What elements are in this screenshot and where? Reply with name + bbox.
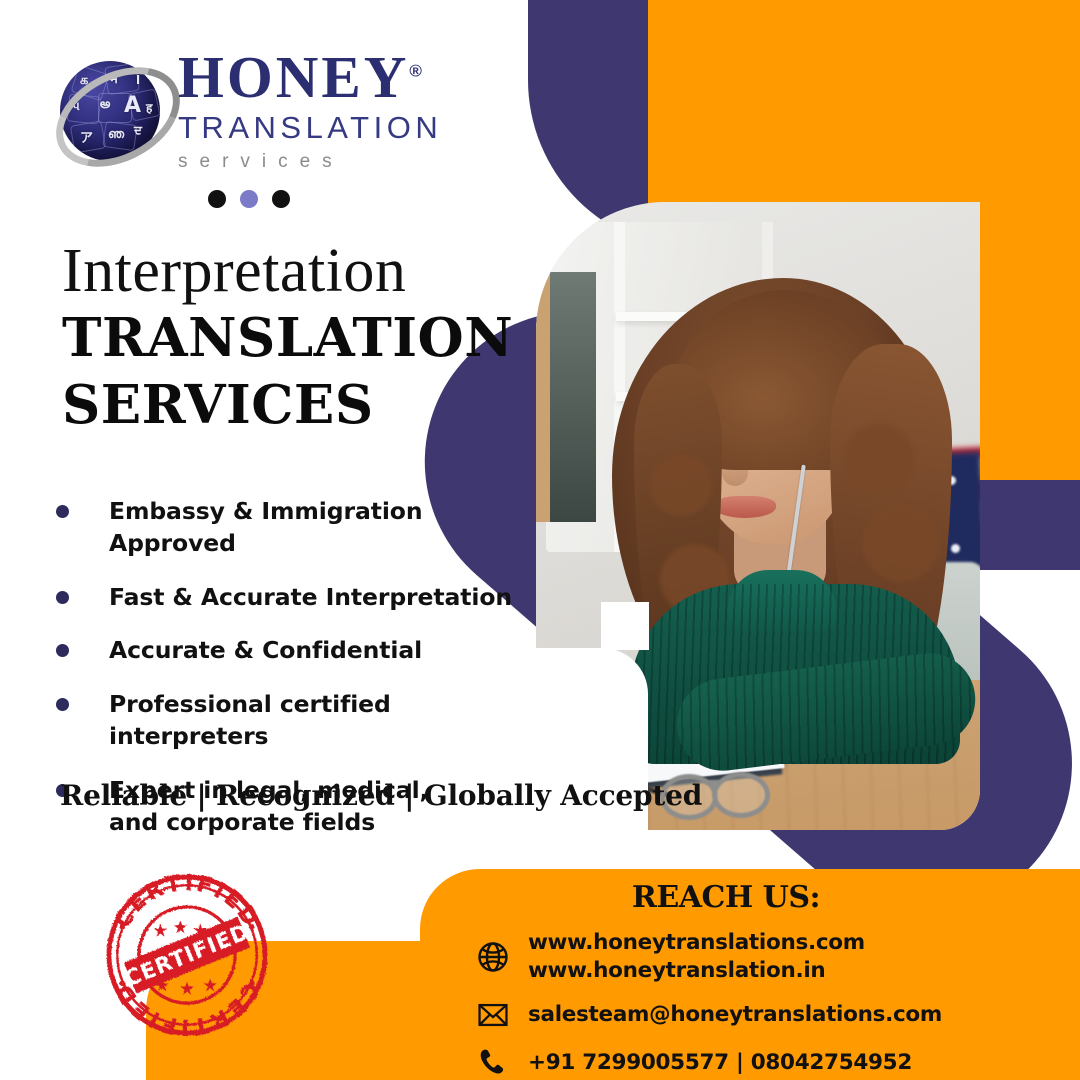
list-item-label: Accurate & Confidential xyxy=(109,634,422,666)
interpreter-person xyxy=(594,254,964,744)
list-item: Professional certified interpreters xyxy=(56,688,526,753)
logo-primary-text: HONEY® xyxy=(178,48,442,107)
contact-row-phone[interactable]: +91 7299005577 | 08042754952 xyxy=(470,1046,1080,1080)
tagline: Reliable | Recognized | Globally Accepte… xyxy=(60,779,702,812)
heading-line-1: TRANSLATION xyxy=(62,305,513,372)
list-item: Embassy & Immigration Approved xyxy=(56,495,526,560)
globe-icon xyxy=(470,939,516,975)
list-item-label: Embassy & Immigration Approved xyxy=(109,495,526,560)
contact-title: REACH US: xyxy=(500,880,952,915)
eyeglasses-bridge xyxy=(704,780,720,785)
list-item: Fast & Accurate Interpretation xyxy=(56,581,526,613)
hair-curl xyxy=(844,424,914,494)
website-line-1[interactable]: www.honeytranslations.com xyxy=(528,929,865,957)
decorative-dots xyxy=(208,190,290,208)
logo-secondary-text: TRANSLATION xyxy=(178,109,442,148)
contact-email[interactable]: salesteam@honeytranslations.com xyxy=(528,1001,942,1029)
list-item: Accurate & Confidential xyxy=(56,634,526,666)
bullet-dot-icon xyxy=(56,644,69,657)
list-item-label: Fast & Accurate Interpretation xyxy=(109,581,512,613)
contact-section: REACH US: www.honeytranslations.com www.… xyxy=(470,880,1080,1080)
bullet-dot-icon xyxy=(56,591,69,604)
bullet-dot-icon xyxy=(56,698,69,711)
globe-languages-icon: க म ا પ అ A ह ア ഞ ਦ xyxy=(52,51,170,169)
heading-line-2: SERVICES xyxy=(62,372,513,439)
page-title: TRANSLATION SERVICES xyxy=(62,305,513,439)
registered-mark: ® xyxy=(409,61,425,80)
contact-row-website[interactable]: www.honeytranslations.com www.honeytrans… xyxy=(470,929,1080,984)
certified-stamp-icon: CERTIFIED CERTIFIED CERTIFIED xyxy=(104,872,270,1038)
dot-1 xyxy=(208,190,226,208)
hair-curl xyxy=(650,454,712,516)
list-item-label: Professional certified interpreters xyxy=(109,688,526,753)
contact-website-block: www.honeytranslations.com www.honeytrans… xyxy=(528,929,865,984)
contact-phone[interactable]: +91 7299005577 | 08042754952 xyxy=(528,1049,912,1077)
logo-tertiary-text: services xyxy=(178,151,442,173)
poster-canvas: க म ا પ అ A ह ア ഞ ਦ HONEY® TRANSLATION s… xyxy=(0,0,1080,1080)
bullet-dot-icon xyxy=(56,505,69,518)
website-line-2[interactable]: www.honeytranslation.in xyxy=(528,957,865,985)
phone-icon xyxy=(470,1046,516,1080)
contact-row-email[interactable]: salesteam@honeytranslations.com xyxy=(470,998,1080,1032)
envelope-icon xyxy=(470,998,516,1032)
shelf-dark-panel xyxy=(550,272,596,522)
heading-script: Interpretation xyxy=(62,236,406,307)
dot-2 xyxy=(240,190,258,208)
eyeglasses-lens xyxy=(712,772,770,818)
dot-3 xyxy=(272,190,290,208)
brand-logo[interactable]: க म ا પ అ A ह ア ഞ ਦ HONEY® TRANSLATION s… xyxy=(52,48,442,173)
lips xyxy=(714,496,776,518)
hair-curl xyxy=(862,504,940,582)
